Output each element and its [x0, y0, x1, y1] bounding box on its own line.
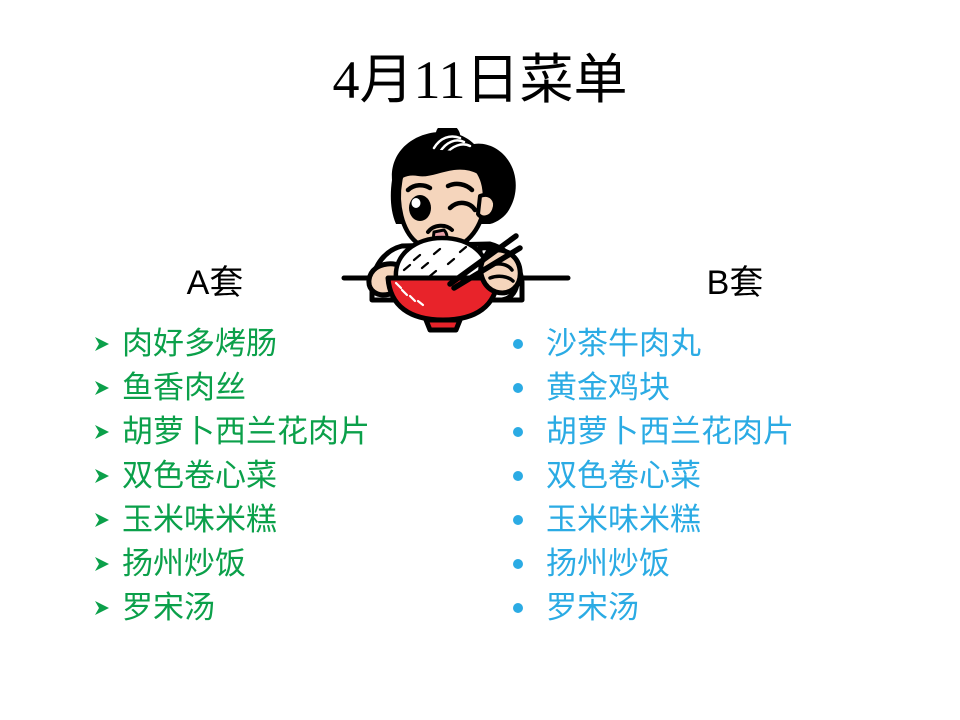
round-bullet-icon [512, 600, 546, 616]
dish-name: 罗宋汤 [122, 590, 215, 626]
arrow-bullet-icon [92, 422, 122, 442]
dish-name: 鱼香肉丝 [122, 370, 246, 406]
page-title: 4月11日菜单 [0, 48, 960, 112]
arrow-bullet-icon [92, 554, 122, 574]
round-bullet-icon [512, 556, 546, 572]
list-item[interactable]: 罗宋汤 [92, 586, 492, 630]
list-item[interactable]: 玉米味米糕 [92, 498, 492, 542]
dish-name: 胡萝卜西兰花肉片 [546, 414, 794, 450]
list-item[interactable]: 双色卷心菜 [512, 454, 932, 498]
set-a-dish-list: 肉好多烤肠 鱼香肉丝 胡萝卜西兰花肉片 双色卷心菜 玉米味米糕 [92, 322, 492, 630]
dish-name: 扬州炒饭 [122, 546, 246, 582]
set-a-header-cjk: 套 [209, 265, 243, 302]
set-b-header-cjk: 套 [729, 265, 763, 302]
set-a-header: A套 [0, 262, 430, 305]
round-bullet-icon [512, 380, 546, 396]
arrow-bullet-icon [92, 334, 122, 354]
list-item[interactable]: 玉米味米糕 [512, 498, 932, 542]
menu-slide: 4月11日菜单 [0, 0, 960, 720]
round-bullet-icon [512, 424, 546, 440]
set-b-header-latin: B [707, 264, 730, 302]
list-item[interactable]: 胡萝卜西兰花肉片 [512, 410, 932, 454]
list-item[interactable]: 胡萝卜西兰花肉片 [92, 410, 492, 454]
round-bullet-icon [512, 468, 546, 484]
set-b-dish-list: 沙茶牛肉丸 黄金鸡块 胡萝卜西兰花肉片 双色卷心菜 玉米味米糕 [512, 322, 932, 630]
dish-name: 扬州炒饭 [546, 546, 670, 582]
arrow-bullet-icon [92, 466, 122, 486]
list-item[interactable]: 扬州炒饭 [92, 542, 492, 586]
list-item[interactable]: 黄金鸡块 [512, 366, 932, 410]
dish-name: 罗宋汤 [546, 590, 639, 626]
arrow-bullet-icon [92, 378, 122, 398]
set-b-header: B套 [520, 262, 950, 305]
list-item[interactable]: 鱼香肉丝 [92, 366, 492, 410]
arrow-bullet-icon [92, 510, 122, 530]
list-item[interactable]: 罗宋汤 [512, 586, 932, 630]
arrow-bullet-icon [92, 598, 122, 618]
dish-name: 黄金鸡块 [546, 370, 670, 406]
dish-name: 胡萝卜西兰花肉片 [122, 414, 370, 450]
dish-name: 双色卷心菜 [546, 458, 701, 494]
list-item[interactable]: 扬州炒饭 [512, 542, 932, 586]
list-item[interactable]: 双色卷心菜 [92, 454, 492, 498]
dish-name: 双色卷心菜 [122, 458, 277, 494]
dish-name: 肉好多烤肠 [122, 326, 277, 362]
list-item[interactable]: 沙茶牛肉丸 [512, 322, 932, 366]
round-bullet-icon [512, 336, 546, 352]
list-item[interactable]: 肉好多烤肠 [92, 322, 492, 366]
dish-name: 玉米味米糕 [122, 502, 277, 538]
set-a-header-latin: A [187, 264, 210, 302]
dish-name: 玉米味米糕 [546, 502, 701, 538]
dish-name: 沙茶牛肉丸 [546, 326, 701, 362]
round-bullet-icon [512, 512, 546, 528]
